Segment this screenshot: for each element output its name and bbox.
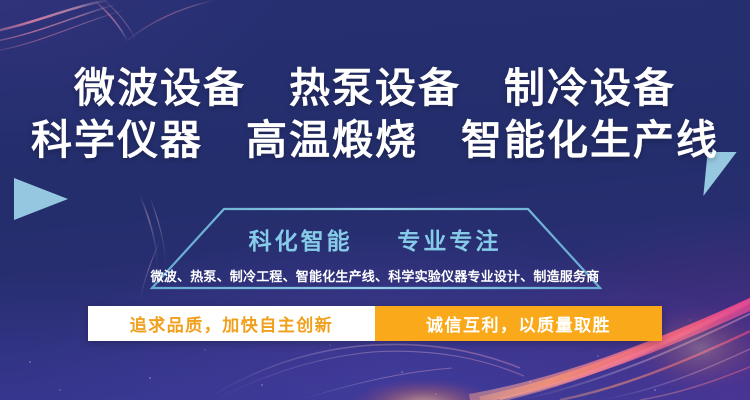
ribbon-left-text: 追求品质，加快自主创新 — [88, 306, 375, 341]
headline-line-2: 科学仪器 高温煅烧 智能化生产线 — [0, 114, 750, 166]
slogan-left: 科化智能 — [249, 228, 353, 254]
arrow-triangle-left-icon — [14, 178, 68, 220]
slogan-ribbon: 追求品质，加快自主创新 诚信互利，以质量取胜 — [88, 306, 662, 341]
subtitle: 微波、热泵、制冷工程、智能化生产线、科学实验仪器专业设计、制造服务商 — [0, 266, 750, 285]
slogan: 科化智能 专业专注 — [0, 222, 750, 256]
ribbon-right-text: 诚信互利，以质量取胜 — [375, 306, 662, 341]
slogan-right: 专业专注 — [397, 228, 501, 254]
headline-line-1: 微波设备 热泵设备 制冷设备 — [0, 62, 750, 114]
promo-banner: 微波设备 热泵设备 制冷设备 科学仪器 高温煅烧 智能化生产线 科化智能 专业专… — [0, 0, 750, 400]
headline: 微波设备 热泵设备 制冷设备 科学仪器 高温煅烧 智能化生产线 — [0, 62, 750, 166]
